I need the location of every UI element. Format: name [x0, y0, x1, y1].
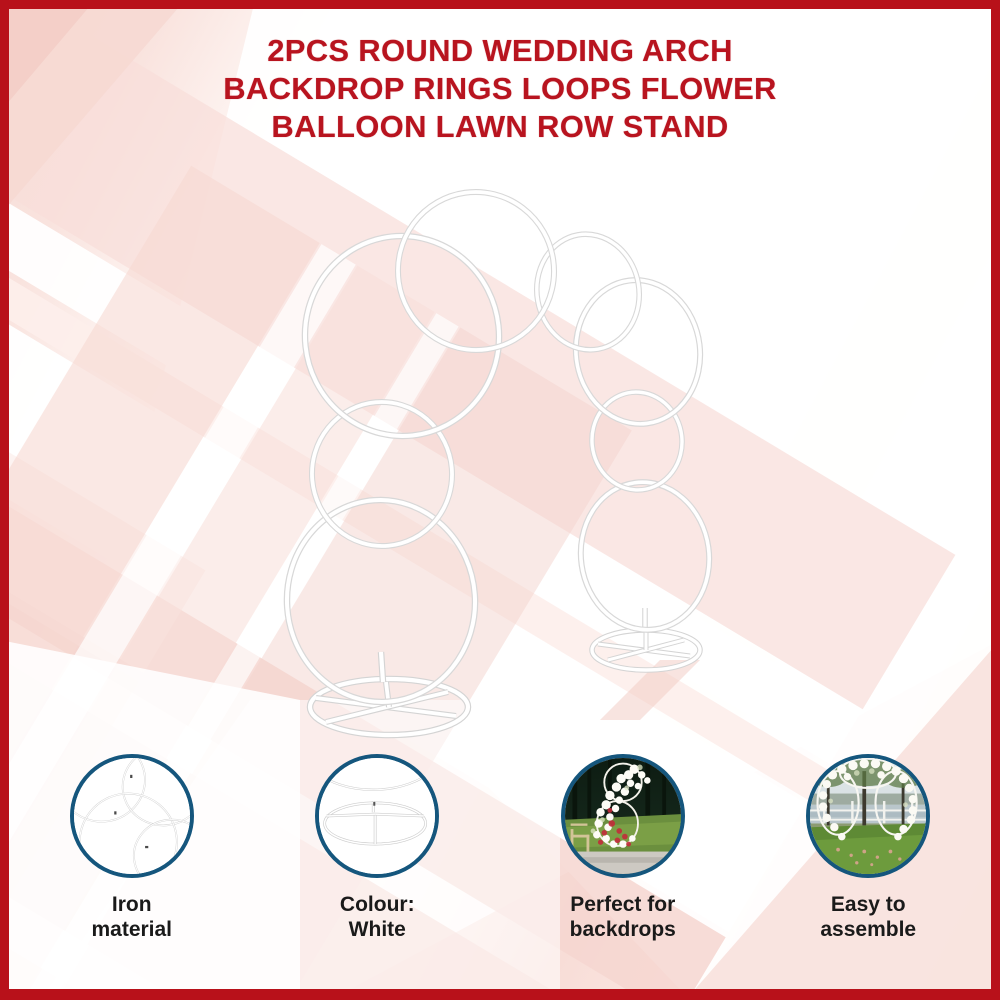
- ring-stands-illustration: [0, 170, 1000, 770]
- caption-line-2: White: [340, 917, 415, 942]
- title-line-1: 2PCS ROUND WEDDING ARCH: [0, 32, 1000, 70]
- badge-colour-white[interactable]: Colour: White: [255, 754, 501, 942]
- product-photo: [0, 170, 1000, 770]
- colour-white-caption: Colour: White: [340, 892, 415, 942]
- frame-border-left: [0, 0, 9, 1000]
- back-right-stand: [528, 226, 719, 670]
- floral-arch-lakeside-photo-icon: [810, 758, 926, 874]
- frame-border-top: [0, 0, 1000, 9]
- caption-line-1: Iron: [91, 892, 172, 917]
- frame-border-right: [991, 0, 1000, 1000]
- caption-line-1: Colour:: [340, 892, 415, 917]
- feature-badges: Iron material: [9, 754, 991, 989]
- floral-arch-forest-photo-icon: [565, 758, 681, 874]
- badge-perfect-for-backdrops[interactable]: Perfect for backdrops: [500, 754, 746, 942]
- badge-easy-to-assemble[interactable]: Easy to assemble: [746, 754, 992, 942]
- iron-material-circle: [70, 754, 194, 878]
- caption-line-2: backdrops: [570, 917, 676, 942]
- page-title: 2PCS ROUND WEDDING ARCH BACKDROP RINGS L…: [0, 32, 1000, 146]
- title-line-2: BACKDROP RINGS LOOPS FLOWER: [0, 70, 1000, 108]
- perfect-for-backdrops-circle: [561, 754, 685, 878]
- ring-intersection-linework-icon: [74, 758, 190, 874]
- caption-line-1: Perfect for: [570, 892, 676, 917]
- easy-to-assemble-caption: Easy to assemble: [820, 892, 916, 942]
- iron-material-caption: Iron material: [91, 892, 172, 942]
- caption-line-2: assemble: [820, 917, 916, 942]
- colour-white-circle: [315, 754, 439, 878]
- frame-border-bottom: [0, 989, 1000, 1000]
- badge-iron-material[interactable]: Iron material: [9, 754, 255, 942]
- front-left-stand: [280, 182, 564, 735]
- product-listing-image: 2PCS ROUND WEDDING ARCH BACKDROP RINGS L…: [0, 0, 1000, 1000]
- back-stand-base: [592, 630, 700, 670]
- caption-line-2: material: [91, 917, 172, 942]
- ring-base-linework-icon: [319, 758, 435, 874]
- title-line-3: BALLOON LAWN ROW STAND: [0, 108, 1000, 146]
- caption-line-1: Easy to: [820, 892, 916, 917]
- perfect-for-backdrops-caption: Perfect for backdrops: [570, 892, 676, 942]
- easy-to-assemble-circle: [806, 754, 930, 878]
